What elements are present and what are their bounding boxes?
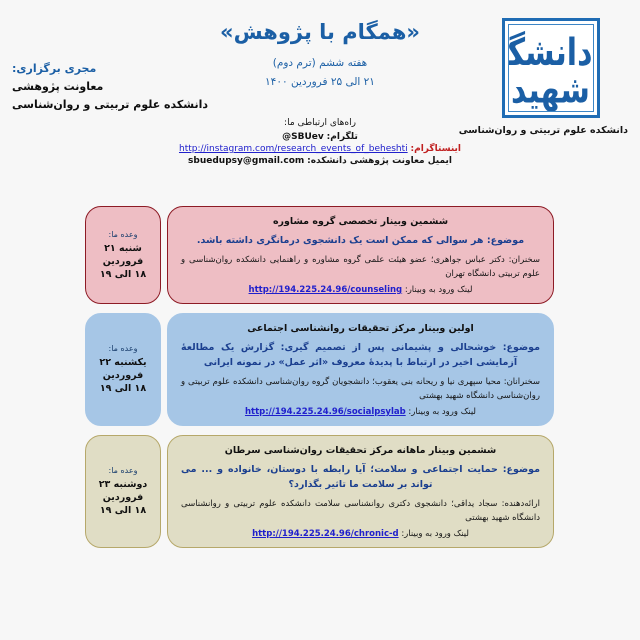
email-label: ایمیل معاونت پژوهشی دانشکده: [307, 156, 452, 166]
webinar-card: ششمین وبینار تخصصی گروه مشاوره موضوع: هر… [167, 206, 554, 304]
webinar-card: ششمین وبینار ماهانه مرکز تحقیقات روان‌شن… [167, 435, 554, 548]
webinar-card: اولین وبینار مرکز تحقیقات روانشناسی اجتم… [167, 313, 554, 426]
organizer-block: مجری برگزاری: معاونت پژوهشی دانشکده علوم… [12, 62, 247, 111]
webinar-row: ششمین وبینار ماهانه مرکز تحقیقات روان‌شن… [85, 435, 554, 548]
poster-header: دانشگاه شهید بهشتی دانشکده علوم تربیتی و… [0, 0, 640, 190]
poster-root: دانشگاه شهید بهشتی دانشکده علوم تربیتی و… [0, 0, 640, 640]
telegram-handle[interactable]: @SBUev [282, 132, 324, 142]
badge-label: وعده ما: [109, 344, 138, 353]
webinar-link[interactable]: http://194.225.24.96/socialpsylab [245, 407, 406, 417]
webinar-link-label: لینک ورود به وبینار: [405, 285, 473, 295]
webinar-link-label: لینک ورود به وبینار: [408, 407, 476, 417]
organizer-line-1: معاونت پژوهشی [12, 80, 247, 93]
instagram-label: اینستاگرام: [411, 144, 461, 154]
badge-date: دوشنبه ۲۳ فروردین [88, 478, 158, 504]
logo-calligraphy-text: دانشگاه شهید بهشتی [509, 25, 593, 112]
email-address[interactable]: sbuedupsy@gmail.com [188, 156, 304, 166]
webinar-date-badge: وعده ما: شنبه ۲۱ فروردین ۱۸ الی ۱۹ [85, 206, 161, 304]
badge-date: شنبه ۲۱ فروردین [88, 242, 158, 268]
telegram-label: تلگرام: [327, 132, 358, 142]
webinar-speaker: سخنرانان: محیا سپهری نیا و ریحانه بنی یع… [181, 375, 540, 403]
badge-date: یکشنبه ۲۲ فروردین [88, 356, 158, 382]
webinar-speaker: ارائه‌دهنده: سجاد یداقی؛ دانشجوی دکتری ر… [181, 497, 540, 525]
badge-label: وعده ما: [109, 466, 138, 475]
contact-block: راه‌های ارتباطی ما: تلگرام: @SBUev اینست… [0, 118, 640, 166]
contact-row-email: ایمیل معاونت پژوهشی دانشکده: sbuedupsy@g… [0, 156, 640, 166]
university-logo-icon: دانشگاه شهید بهشتی [502, 18, 600, 118]
webinar-link-line: لینک ورود به وبینار: http://194.225.24.9… [181, 285, 540, 295]
badge-time: ۱۸ الی ۱۹ [100, 382, 146, 395]
badge-time: ۱۸ الی ۱۹ [100, 504, 146, 517]
contact-row-telegram: تلگرام: @SBUev [0, 132, 640, 142]
badge-label: وعده ما: [109, 230, 138, 239]
webinar-title: ششمین وبینار ماهانه مرکز تحقیقات روان‌شن… [181, 445, 540, 456]
instagram-link[interactable]: http://instagram.com/research_events_of_… [179, 144, 408, 154]
webinar-date-badge: وعده ما: یکشنبه ۲۲ فروردین ۱۸ الی ۱۹ [85, 313, 161, 426]
webinar-link-line: لینک ورود به وبینار: http://194.225.24.9… [181, 407, 540, 417]
contact-title: راه‌های ارتباطی ما: [0, 118, 640, 128]
webinar-link-label: لینک ورود به وبینار: [401, 529, 469, 539]
contact-row-instagram: اینستاگرام: http://instagram.com/researc… [0, 144, 640, 154]
webinar-rows: ششمین وبینار تخصصی گروه مشاوره موضوع: هر… [0, 206, 640, 557]
webinar-row: ششمین وبینار تخصصی گروه مشاوره موضوع: هر… [85, 206, 554, 304]
webinar-row: اولین وبینار مرکز تحقیقات روانشناسی اجتم… [85, 313, 554, 426]
webinar-title: ششمین وبینار تخصصی گروه مشاوره [181, 216, 540, 227]
webinar-speaker: سخنران: دکتر عباس جواهری؛ عضو هیئت علمی … [181, 253, 540, 281]
badge-time: ۱۸ الی ۱۹ [100, 268, 146, 281]
logo-inner-frame: دانشگاه شهید بهشتی [508, 24, 594, 112]
organizer-line-2: دانشکده علوم تربیتی و روان‌شناسی [12, 98, 247, 111]
webinar-date-badge: وعده ما: دوشنبه ۲۳ فروردین ۱۸ الی ۱۹ [85, 435, 161, 548]
webinar-topic: موضوع: حمایت اجتماعی و سلامت؛ آیا رابطه … [181, 462, 540, 492]
organizer-label: مجری برگزاری: [12, 62, 247, 75]
webinar-title: اولین وبینار مرکز تحقیقات روانشناسی اجتم… [181, 323, 540, 334]
webinar-link[interactable]: http://194.225.24.96/chronic-d [252, 529, 399, 539]
webinar-link[interactable]: http://194.225.24.96/counseling [249, 285, 403, 295]
webinar-link-line: لینک ورود به وبینار: http://194.225.24.9… [181, 529, 540, 539]
webinar-topic: موضوع: خوشحالی و پشیمانی پس از تصمیم گیر… [181, 340, 540, 370]
webinar-topic: موضوع: هر سوالی که ممکن است یک دانشجوی د… [181, 233, 540, 248]
